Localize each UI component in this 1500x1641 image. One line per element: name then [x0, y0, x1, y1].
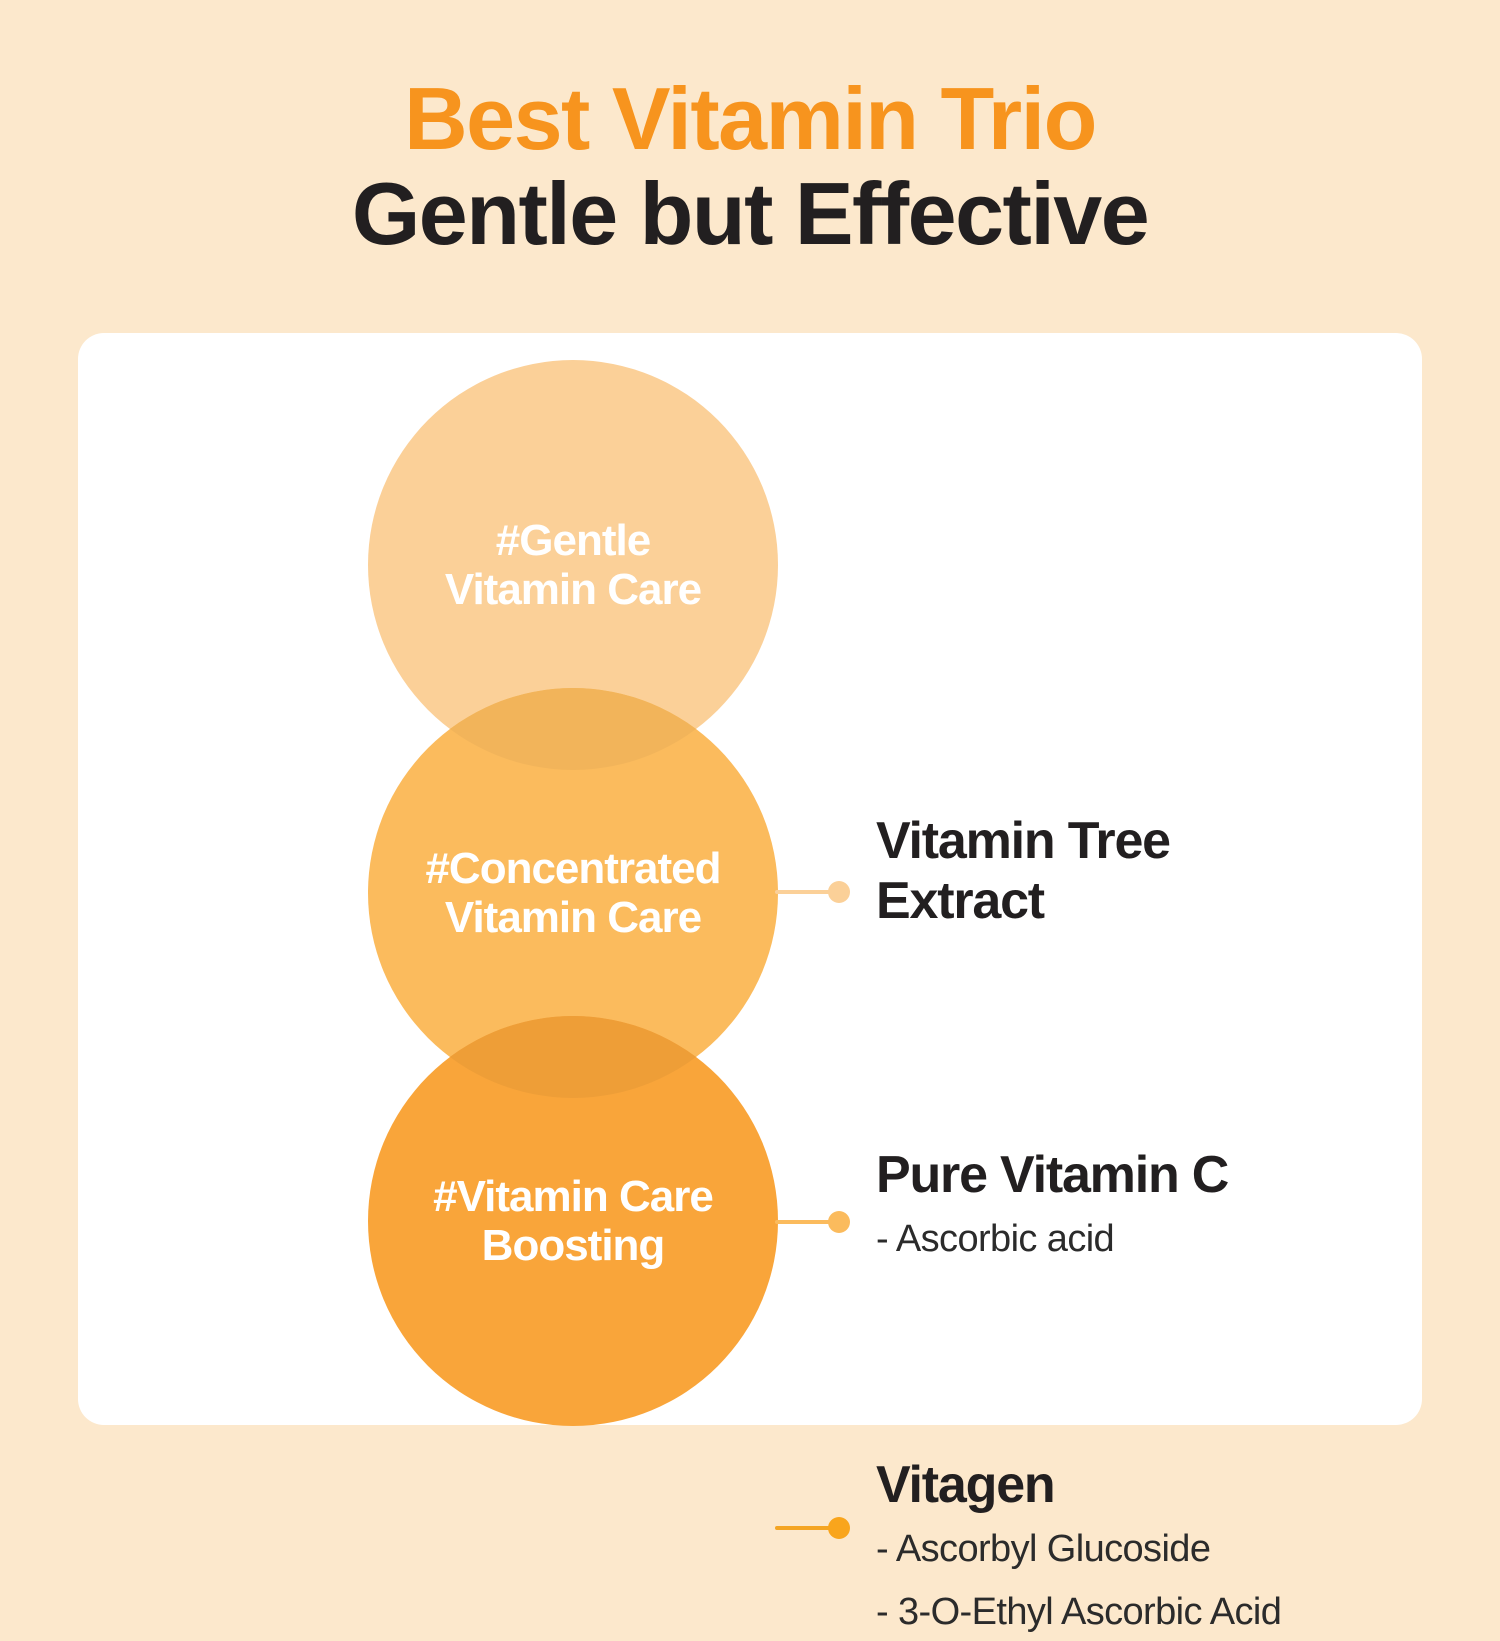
page-header: Best Vitamin Trio Gentle but Effective	[0, 72, 1500, 264]
connector-dot-icon	[828, 1517, 850, 1539]
ingredient-name: Pure Vitamin C	[876, 1145, 1496, 1205]
connector-line-pure-vitamin-c	[775, 1220, 841, 1224]
connector-line-vitamin-tree	[775, 890, 841, 894]
ingredient-name: Vitagen	[876, 1455, 1496, 1515]
ingredient-block-vitamin-tree: Vitamin Tree Extract	[876, 811, 1496, 932]
ingredient-detail: - Ascorbyl Glucoside	[876, 1521, 1496, 1578]
ingredient-detail: - 3-O-Ethyl Ascorbic Acid	[876, 1584, 1496, 1641]
page-title-secondary: Gentle but Effective	[0, 165, 1500, 264]
ingredient-block-vitagen: Vitagen - Ascorbyl Glucoside - 3-O-Ethyl…	[876, 1455, 1496, 1641]
venn-label-boosting: #Vitamin Care Boosting	[368, 1016, 778, 1426]
venn-diagram: #Gentle Vitamin Care #Concentrated Vitam…	[290, 360, 790, 1422]
page-title-primary: Best Vitamin Trio	[0, 72, 1500, 165]
ingredient-name: Vitamin Tree Extract	[876, 811, 1496, 932]
connector-dot-icon	[828, 881, 850, 903]
connector-line-vitagen	[775, 1526, 841, 1530]
ingredient-block-pure-vitamin-c: Pure Vitamin C - Ascorbic acid	[876, 1145, 1496, 1268]
content-card: #Gentle Vitamin Care #Concentrated Vitam…	[78, 333, 1422, 1425]
connector-dot-icon	[828, 1211, 850, 1233]
ingredient-detail: - Ascorbic acid	[876, 1211, 1496, 1268]
